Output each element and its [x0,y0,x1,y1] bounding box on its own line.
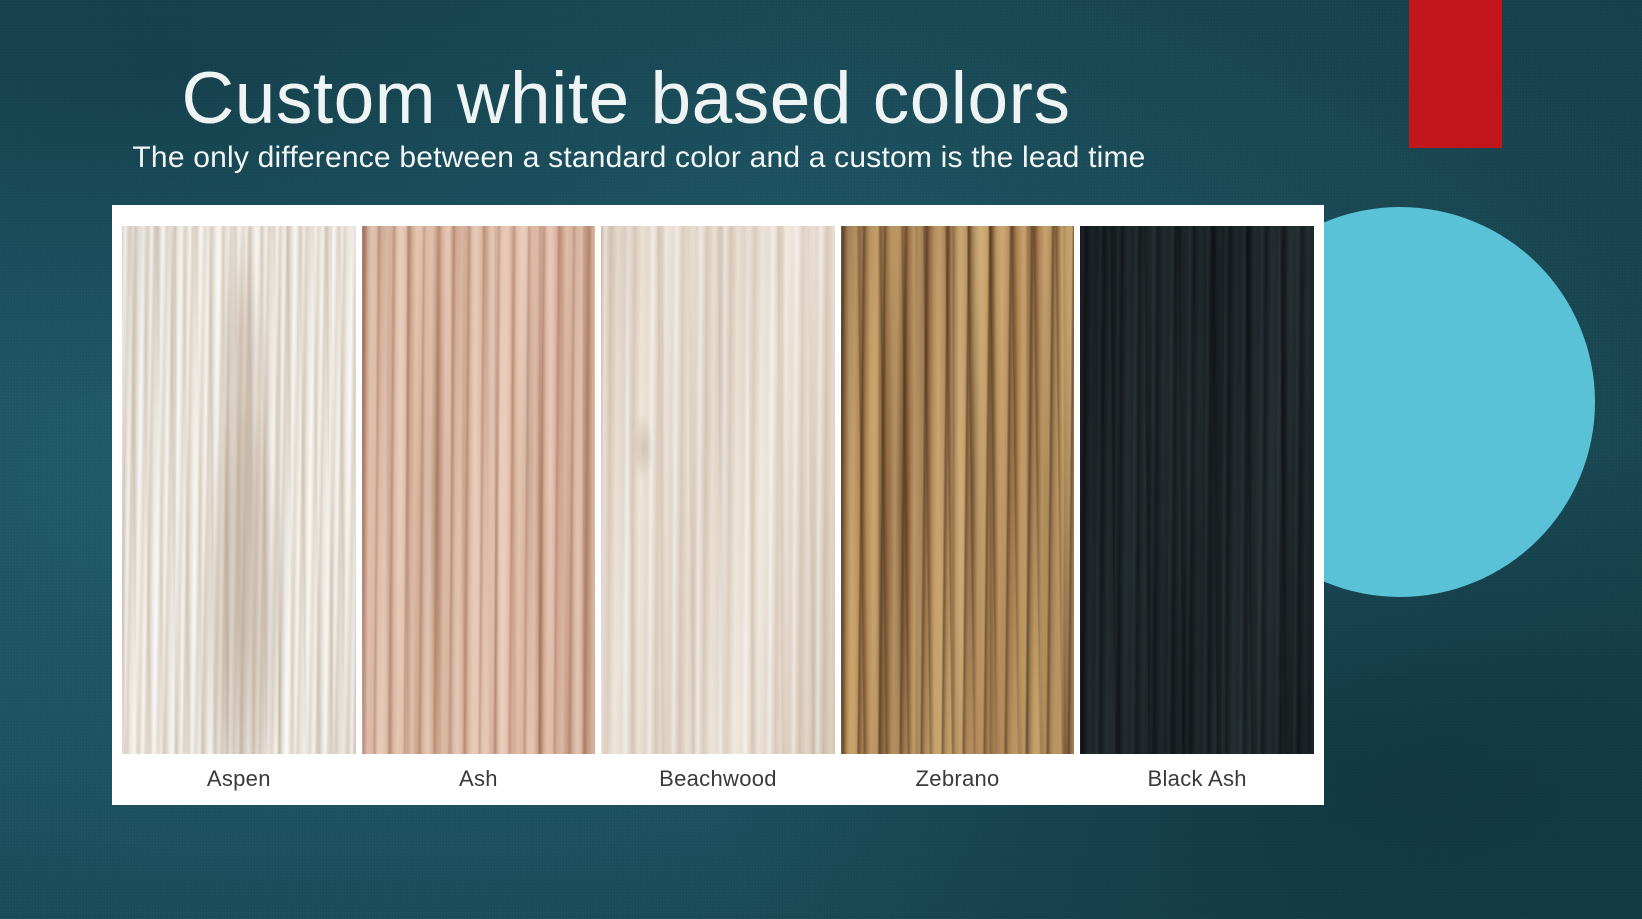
wood-swatch-label-row: Aspen Ash Beachwood Zebrano Black Ash [122,763,1314,801]
wood-grain-texture [362,226,596,754]
wood-grain-texture [122,226,356,754]
wood-swatch-beachwood[interactable] [601,226,835,754]
wood-swatch-ash[interactable] [362,226,596,754]
swatch-label-black-ash: Black Ash [1080,763,1314,801]
wood-swatch-aspen[interactable] [122,226,356,754]
wood-swatch-row [122,226,1314,754]
slide-subtitle: The only difference between a standard c… [0,143,1278,173]
swatch-label-zebrano: Zebrano [841,763,1075,801]
swatch-label-ash: Ash [362,763,596,801]
wood-grain-texture [601,226,835,754]
presentation-slide: Custom white based colors The only diffe… [0,0,1642,919]
red-rectangle-decoration [1409,0,1502,148]
wood-grain-texture [1080,226,1314,754]
wood-swatch-black-ash[interactable] [1080,226,1314,754]
swatch-label-aspen: Aspen [122,763,356,801]
swatch-label-beachwood: Beachwood [601,763,835,801]
wood-grain-texture [841,226,1075,754]
slide-title: Custom white based colors [0,62,1252,135]
wood-swatch-zebrano[interactable] [841,226,1075,754]
wood-swatch-card: Aspen Ash Beachwood Zebrano Black Ash [112,205,1324,805]
